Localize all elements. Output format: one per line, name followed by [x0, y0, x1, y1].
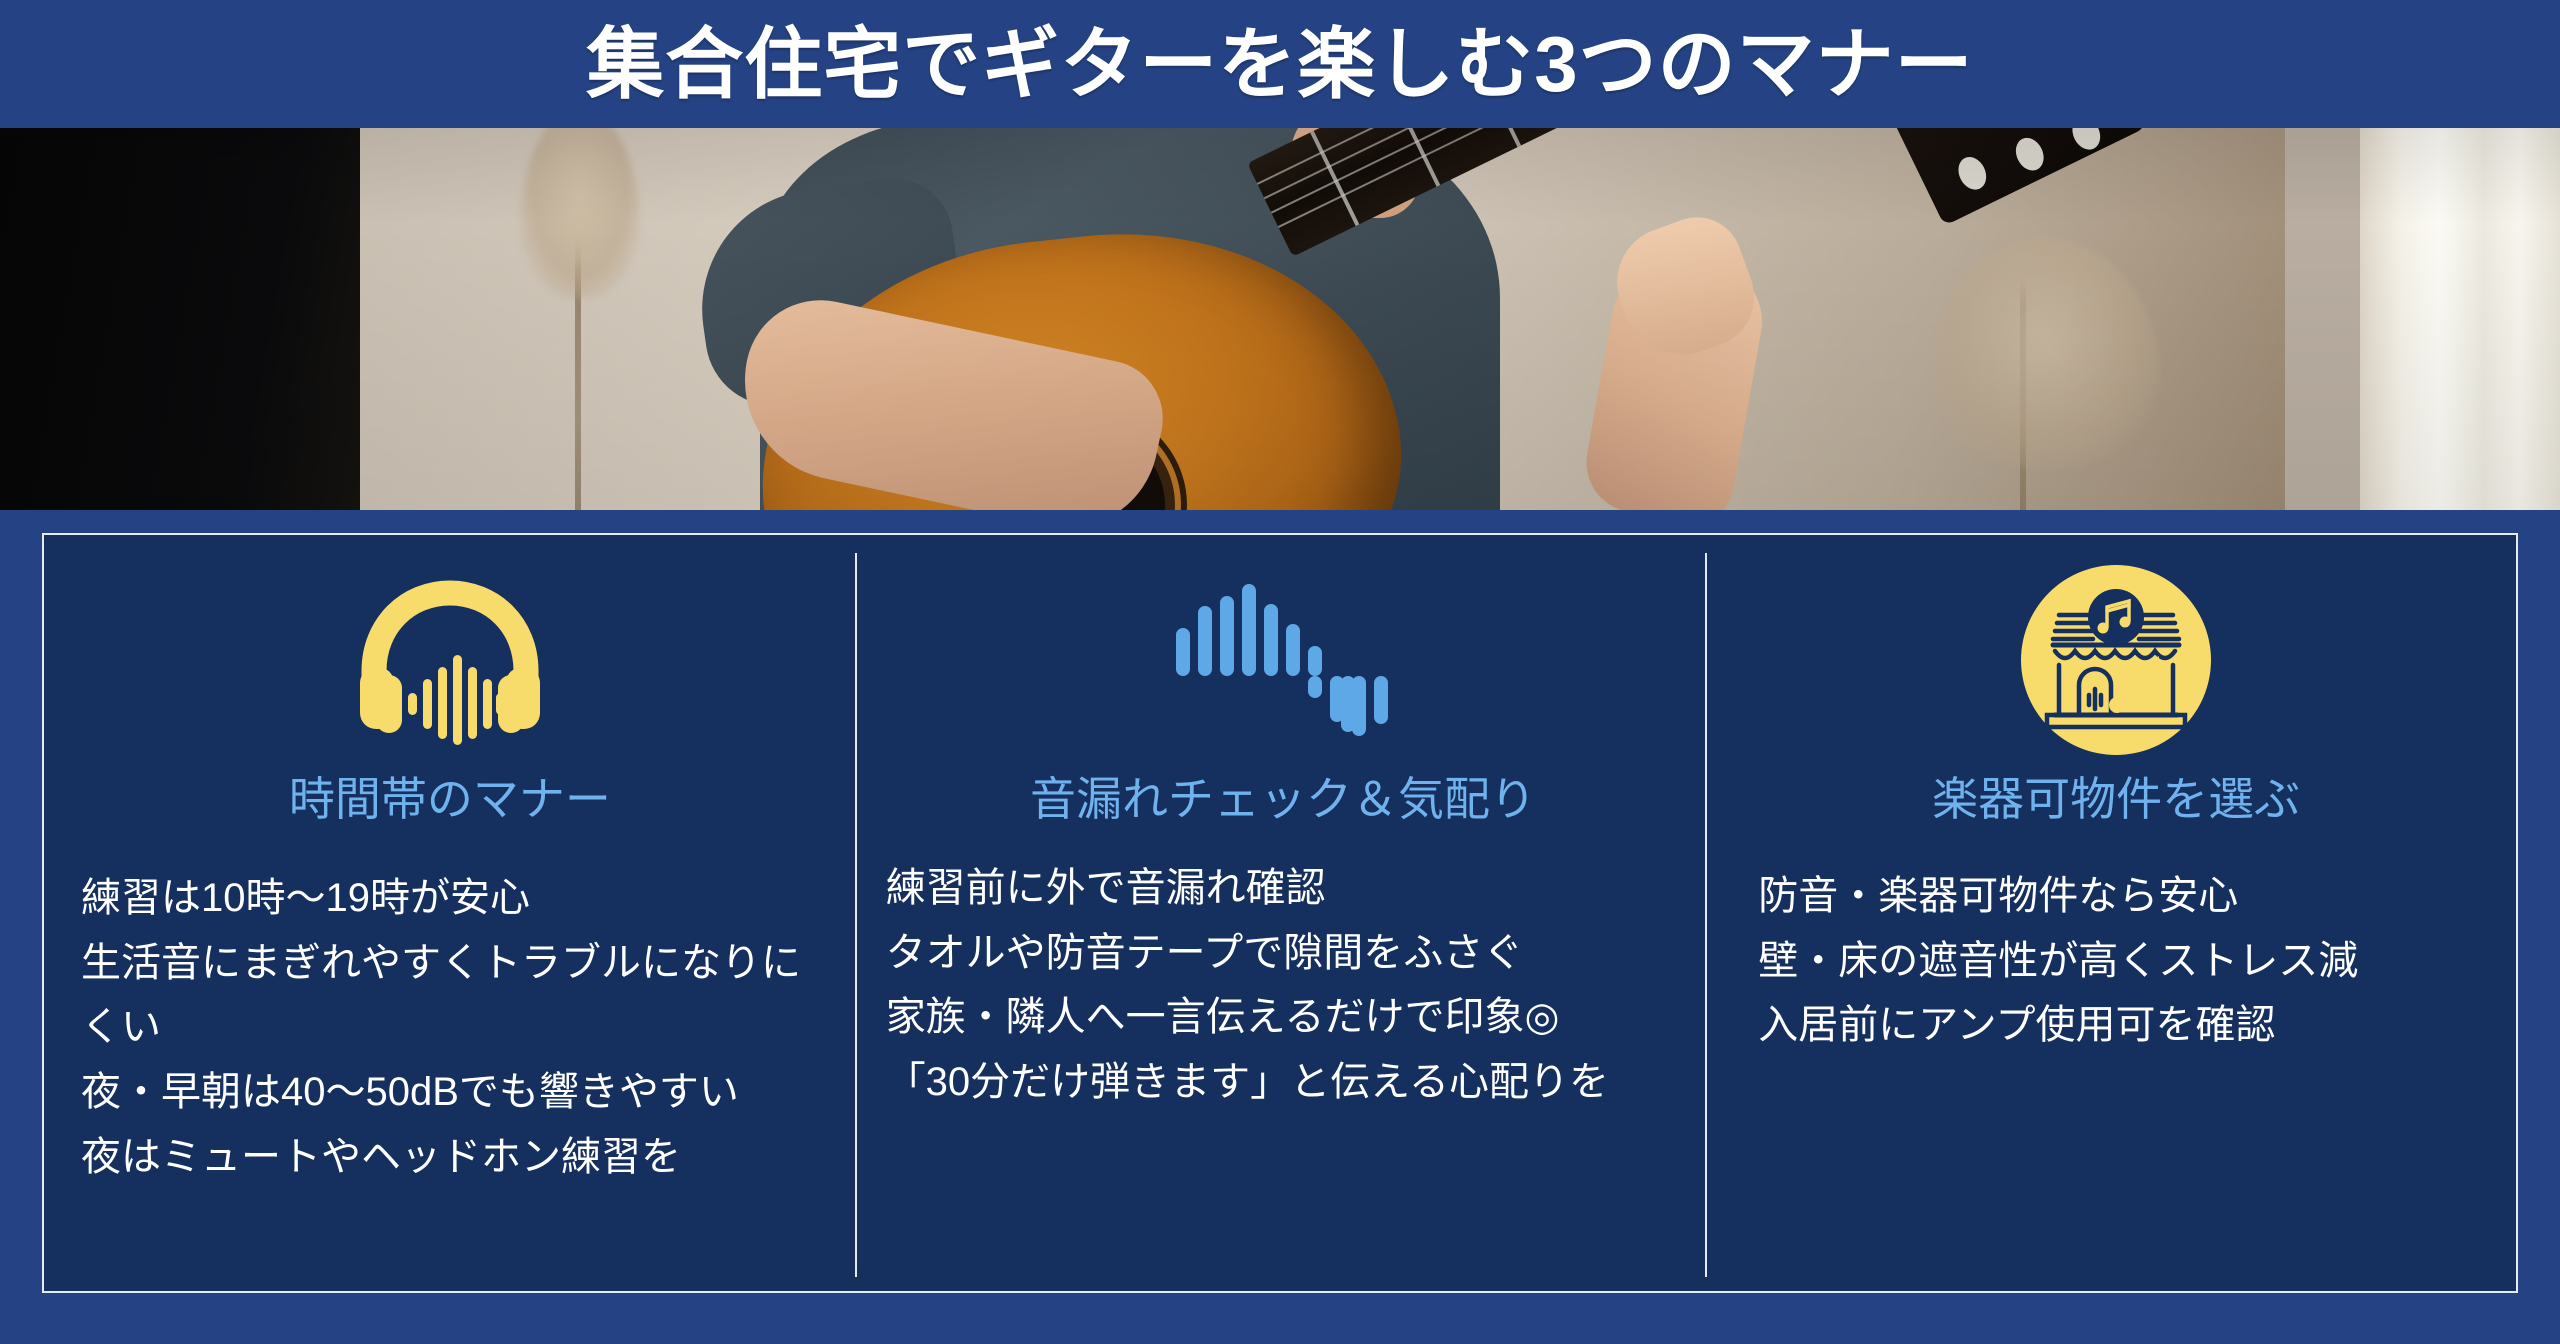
body-line: 防音・楽器可物件なら安心: [1758, 864, 2486, 929]
body-line: 「30分だけ弾きます」と伝える心配りを: [886, 1050, 1681, 1115]
body-line: 夜・早朝は40〜50dBでも響きやすい: [81, 1060, 821, 1125]
tip-column-3: 楽器可物件を選ぶ 防音・楽器可物件なら安心 壁・床の遮音性が高くストレス減 入居…: [1704, 535, 2516, 1291]
column-body: 練習前に外で音漏れ確認 タオルや防音テープで隙間をふさぐ 家族・隣人へ一言伝える…: [886, 856, 1681, 1115]
tip-column-1: 時間帯のマナー 練習は10時〜19時が安心 生活音にまぎれやすくトラブルになりに…: [44, 535, 856, 1291]
page-title: 集合住宅でギターを楽しむ3つのマナー: [586, 25, 1973, 103]
body-line: 生活音にまぎれやすくトラブルになりにくい: [81, 931, 821, 1061]
body-line: 夜はミュートやヘッドホン練習を: [81, 1125, 821, 1190]
headphones-waveform-icon: [80, 565, 820, 755]
body-line: 練習前に外で音漏れ確認: [886, 856, 1681, 921]
infographic-page: 集合住宅でギターを楽しむ3つのマナー: [0, 0, 2560, 1344]
body-line: 入居前にアンプ使用可を確認: [1758, 993, 2486, 1058]
column-title: 時間帯のマナー: [289, 773, 611, 826]
column-title: 楽器可物件を選ぶ: [1932, 773, 2300, 826]
sound-waveform-icon: [886, 565, 1681, 755]
body-line: タオルや防音テープで隙間をふさぐ: [886, 921, 1681, 986]
column-body: 練習は10時〜19時が安心 生活音にまぎれやすくトラブルになりにくい 夜・早朝は…: [79, 866, 821, 1190]
header-bar: 集合住宅でギターを楽しむ3つのマナー: [0, 0, 2560, 128]
music-shop-icon: [1752, 565, 2480, 755]
body-line: 壁・床の遮音性が高くストレス減: [1758, 929, 2486, 994]
body-line: 家族・隣人へ一言伝えるだけで印象◎: [886, 985, 1681, 1050]
hero-photo: [0, 128, 2560, 510]
tip-column-2: 音漏れチェック＆気配り 練習前に外で音漏れ確認 タオルや防音テープで隙間をふさぐ…: [856, 535, 1705, 1291]
tips-card: 時間帯のマナー 練習は10時〜19時が安心 生活音にまぎれやすくトラブルになりに…: [42, 533, 2518, 1293]
column-body: 防音・楽器可物件なら安心 壁・床の遮音性が高くストレス減 入居前にアンプ使用可を…: [1746, 864, 2486, 1058]
body-line: 練習は10時〜19時が安心: [81, 866, 821, 931]
column-title: 音漏れチェック＆気配り: [1030, 773, 1536, 826]
photo-overlay: [0, 128, 2560, 510]
